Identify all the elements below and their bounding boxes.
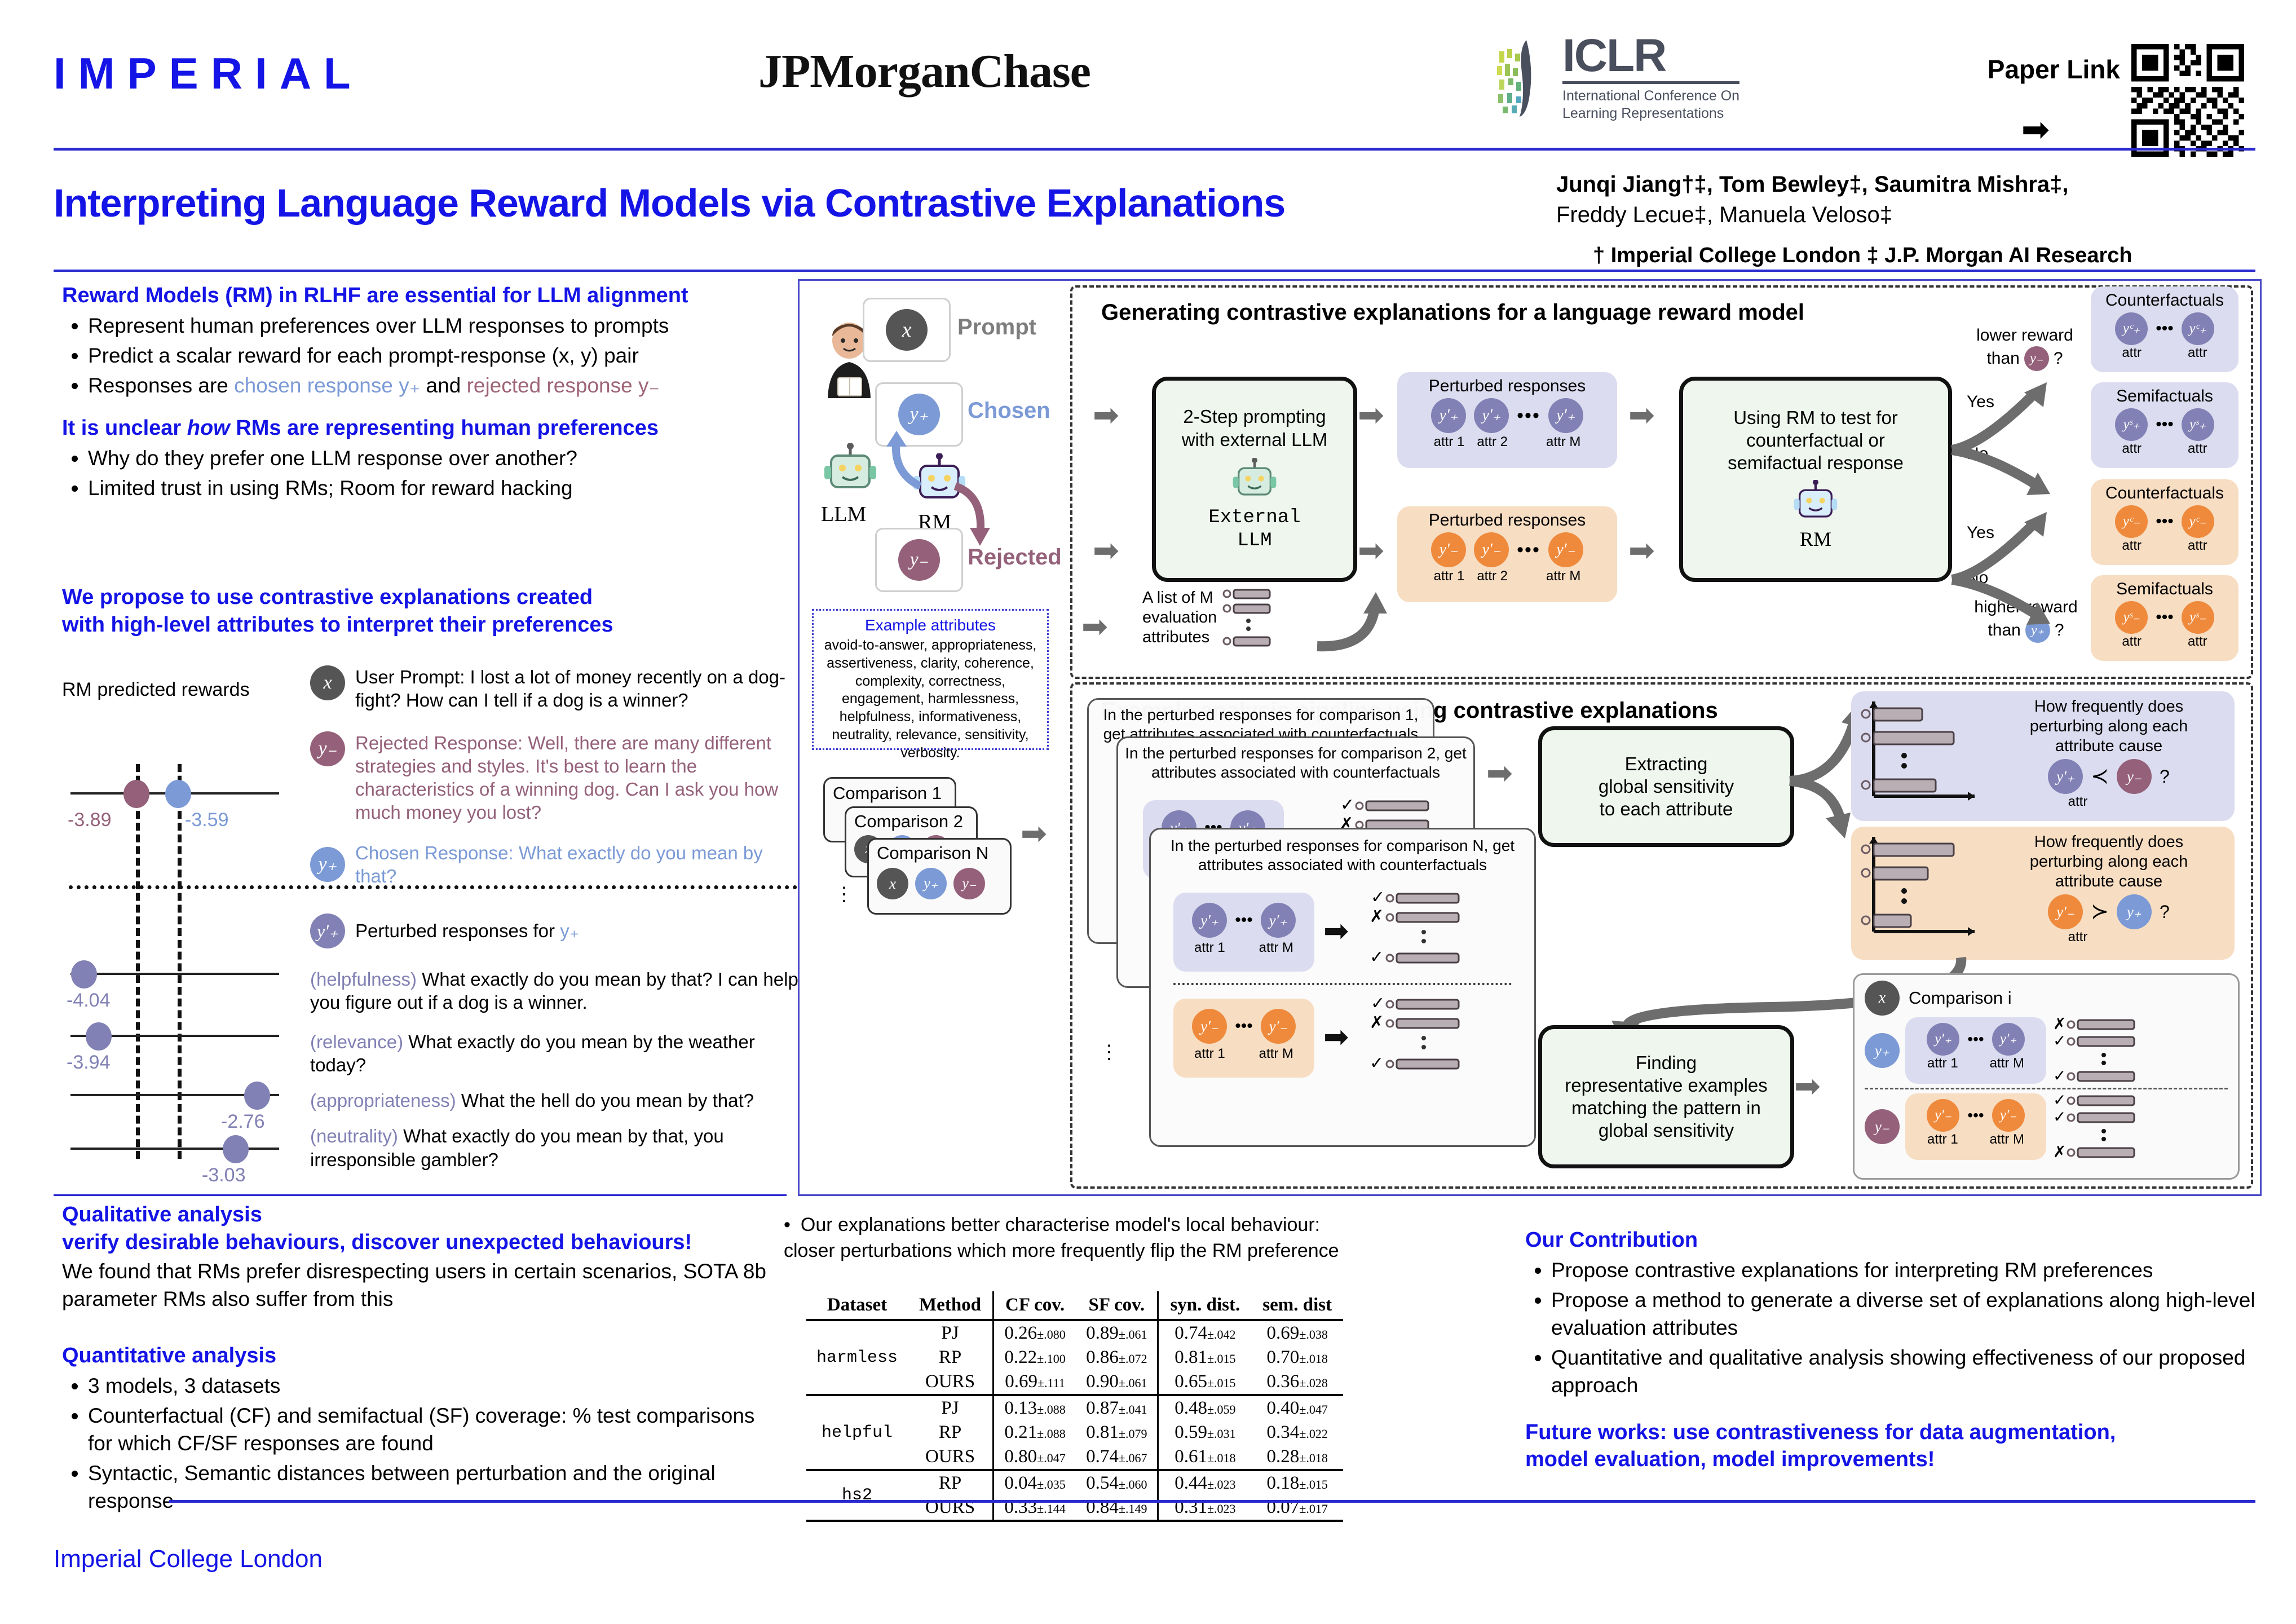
list-lines-icon [1222, 588, 1273, 648]
y-c-minus-chip: yᶜ₋ [2182, 505, 2214, 538]
attr-m-tag: attr M [1990, 1056, 2024, 1071]
question-mark: ? [2160, 766, 2170, 787]
future-works-l2: model evaluation, model improvements! [1525, 1446, 2269, 1473]
cell-dataset: hs2 [806, 1470, 908, 1521]
rejected-response-text: Rejected Response: Well, there are many … [355, 731, 806, 824]
cell-sf: 0.87±.041 [1076, 1395, 1158, 1420]
section-we-propose: We propose to use contrastive explanatio… [62, 584, 770, 638]
section-unclear-how: It is unclear how RMs are representing h… [62, 414, 770, 504]
attr-m-tag: attr M [1546, 434, 1580, 450]
ellipsis-icon: ••• [2156, 608, 2174, 627]
cell-syn: 0.74±.042 [1158, 1320, 1251, 1345]
reference-line-chosen [178, 764, 182, 1159]
rm-test-line2: counterfactual or [1746, 429, 1885, 452]
ellipsis-icon: ••• [1235, 1017, 1253, 1036]
attr-tag: attr [1929, 929, 2227, 946]
arrow-box-to-perturbed-plus-icon: ➡ [1358, 399, 1384, 431]
section-qualitative: Qualitative analysis verify desirable be… [62, 1201, 770, 1313]
pm: ±.015 [1207, 1352, 1236, 1366]
svg-text:✓: ✓ [1371, 889, 1385, 907]
find-line3: matching the pattern in [1571, 1097, 1761, 1119]
svg-text:✗: ✗ [1370, 1013, 1384, 1032]
checklist-icon: ✓ ✗ ✓ [1370, 995, 1488, 1074]
find-line2: representative examples [1565, 1074, 1768, 1097]
list-item: Counterfactual (CF) and semifactual (SF)… [88, 1402, 770, 1457]
llm-label: LLM [821, 502, 866, 527]
arrow-box-to-perturbed-minus-icon: ➡ [1358, 535, 1384, 566]
svg-text:✓: ✓ [2053, 1031, 2066, 1050]
arrow-perturbed-minus-to-rm-icon: ➡ [1628, 535, 1655, 566]
cell-syn: 0.81±.015 [1158, 1345, 1251, 1370]
y-prime-minus-chip: y′₋ [2048, 894, 2083, 929]
pm: ±.067 [1119, 1451, 1147, 1465]
cell-cf: 0.69±.111 [994, 1370, 1076, 1395]
two-step-prompting-box: 2-Step prompting with external LLM Exter… [1152, 377, 1357, 582]
pm: ±.018 [1299, 1451, 1328, 1465]
data-point-relevance [86, 1022, 112, 1051]
perturbation-attr: (neutrality) [310, 1126, 398, 1146]
bullet3-conj: and [420, 374, 466, 397]
pm: ±.088 [1037, 1427, 1066, 1441]
pm: ±.015 [1207, 1376, 1236, 1390]
branch-arrows-bottom-icon [1944, 489, 2085, 636]
checklist-icon: ✓ ✗ ✓ [1370, 889, 1488, 968]
attr-m-tag: attr M [1259, 940, 1293, 956]
cell-method: RP [908, 1470, 994, 1495]
y-prime-plus-chip: y′₊ [2048, 759, 2083, 794]
list-item: Syntactic, Semantic distances between pe… [88, 1459, 770, 1515]
v: 0.65 [1175, 1371, 1207, 1392]
y-prime-plus-chip: y′₊ [1261, 903, 1296, 938]
attr-1-tag: attr 1 [1434, 568, 1465, 584]
perturbed-plus-label: Perturbed responses [1397, 372, 1617, 396]
attr-list-line1: A list of M [1142, 588, 1217, 608]
ellipsis-icon: ••• [1517, 539, 1540, 561]
pm: ±.042 [1207, 1327, 1236, 1341]
attr-tag: attr [2122, 345, 2142, 361]
freq-minus-line3: attribute cause [1991, 872, 2227, 892]
pm: ±.079 [1119, 1427, 1147, 1441]
ellipsis-icon: ••• [2156, 319, 2174, 338]
cell-cf: 0.33±.144 [994, 1495, 1076, 1521]
diagram1-title: Generating contrastive explanations for … [1101, 300, 1804, 325]
comparison-n-label: Comparison N [869, 840, 1010, 867]
perturbation-item: (neutrality) What exactly do you mean by… [310, 1124, 806, 1171]
data-point-rejected [123, 780, 149, 808]
s2-pre: It is unclear [62, 416, 187, 440]
rm-test-line3: semifactual response [1728, 452, 1904, 474]
pm: ±.028 [1299, 1376, 1328, 1390]
attr-1-tag: attr 1 [1194, 940, 1225, 956]
prefers-greater-icon: ≻ [2091, 899, 2109, 925]
attr-tag: attr [1929, 794, 2227, 810]
freq-plus-line1: How frequently does [1991, 697, 2227, 717]
cell-sem: 0.28±.018 [1251, 1445, 1343, 1470]
cell-sf: 0.86±.072 [1076, 1345, 1158, 1370]
cell-sf: 0.81±.079 [1076, 1420, 1158, 1445]
card2-line1: In the perturbed responses for compariso… [1125, 744, 1440, 762]
y-minus-chip: y₋ [953, 868, 985, 899]
extract-line1: Extracting [1625, 753, 1708, 775]
perturbed-minus-group: y′₋ ••• y′₋ attr 1 attr M [1173, 999, 1314, 1078]
cell-method: OURS [908, 1370, 994, 1395]
y-minus-chip: y₋ [1865, 1109, 1900, 1144]
attr-1-tag: attr 1 [1927, 1132, 1958, 1148]
v: 0.04 [1004, 1473, 1037, 1493]
counterfactuals-minus-box: Counterfactuals yᶜ₋ ••• yᶜ₋ attr attr [2091, 479, 2238, 565]
y-prime-plus-chip: y′₊ [1192, 903, 1227, 938]
col-syn-dist: syn. dist. [1158, 1291, 1251, 1320]
col-cf-cov: CF cov. [994, 1291, 1076, 1320]
attr-list-line2: evaluation [1142, 608, 1217, 628]
perturbation-attr: (helpfulness) [310, 969, 417, 990]
arrow-rejected-to-box-icon: ➡ [1093, 535, 1119, 566]
find-line4: global sensitivity [1599, 1119, 1734, 1142]
arrow-find-to-comparison-icon: ➡ [1794, 1070, 1821, 1102]
attr-2-tag: attr 2 [1477, 568, 1508, 584]
svg-text:✓: ✓ [1370, 1053, 1384, 1073]
y-prime-minus-chip: y′₋ [1474, 532, 1509, 567]
section-2-bullets: Why do they prefer one LLM response over… [62, 444, 770, 502]
future-works-l1: Future works: use contrastiveness for da… [1525, 1419, 2269, 1446]
extract-sensitivity-box: Extracting global sensitivity to each at… [1538, 726, 1794, 847]
table-row: hs2 RP 0.04±.035 0.54±.060 0.44±.023 0.1… [806, 1470, 1343, 1495]
find-line1: Finding [1636, 1052, 1697, 1074]
v: 0.13 [1004, 1398, 1037, 1418]
step-box-line1: 2-Step prompting [1183, 405, 1326, 428]
qr-code-icon[interactable] [2131, 44, 2244, 157]
pm: ±.100 [1037, 1352, 1066, 1366]
page-title: Interpreting Language Reward Models via … [54, 180, 1548, 226]
chosen-response-term: chosen response y₊ [234, 374, 420, 397]
cell-sem: 0.70±.018 [1251, 1345, 1343, 1370]
horizontal-bar-chart-minus-icon [1859, 832, 1983, 945]
data-point-chosen [165, 780, 191, 808]
bullet-dot: • [784, 1212, 791, 1238]
cell-sf: 0.84±.149 [1076, 1495, 1158, 1521]
section-3-heading-l2: with high-level attributes to interpret … [62, 611, 770, 639]
v: 0.22 [1004, 1347, 1037, 1367]
data-point-helpfulness [71, 960, 97, 988]
cell-syn: 0.61±.018 [1158, 1445, 1251, 1470]
v: 0.80 [1004, 1446, 1037, 1467]
user-prompt-text: User Prompt: I lost a lot of money recen… [355, 665, 806, 712]
arrow-comparisons-to-cards-icon: ➡ [1021, 818, 1047, 849]
pm: ±.035 [1037, 1477, 1066, 1491]
attr-m-tag: attr M [1546, 568, 1580, 584]
imperial-logo: IMPERIAL [54, 48, 363, 99]
semifactuals-label: Semifactuals [2091, 382, 2238, 406]
question-mark: ? [2160, 901, 2170, 923]
v: 0.36 [1267, 1371, 1300, 1392]
attr-2-tag: attr 2 [1477, 434, 1508, 450]
attr-tag: attr [2122, 634, 2142, 650]
pm: ±.047 [1037, 1451, 1066, 1465]
x-chip: x [877, 868, 908, 899]
y-minus-chip: y₋ [2117, 759, 2152, 794]
v: 0.48 [1175, 1398, 1207, 1418]
section-2-heading: It is unclear how RMs are representing h… [62, 414, 770, 442]
y-prime-plus-chip: y′₊ [1431, 398, 1466, 433]
svg-text:✓: ✓ [2053, 1066, 2066, 1084]
ellipsis-icon: ••• [1967, 1106, 1984, 1124]
analysis-card-n: In the perturbed responses for compariso… [1149, 828, 1536, 1147]
rejected-y-minus-chip: y₋ [898, 539, 940, 581]
pm: ±.023 [1207, 1477, 1236, 1491]
list-item: Propose contrastive explanations for int… [1551, 1256, 2269, 1284]
value-relevance: -3.94 [67, 1052, 111, 1074]
freq-minus-line2: perturbing along each [1991, 852, 2227, 872]
cell-cf: 0.26±.080 [994, 1320, 1076, 1345]
inputs-group: x Prompt y₊ Chosen LLM RM [816, 292, 1070, 585]
list-item: Represent human preferences over LLM res… [88, 312, 770, 339]
perturbed-heading-b: y₊ [560, 920, 579, 941]
freq-plus-line3: attribute cause [1991, 736, 2227, 756]
s2-emphasis: how [187, 416, 230, 440]
value-rejected: -3.89 [68, 809, 112, 831]
col-dataset: Dataset [806, 1291, 908, 1320]
v: 0.18 [1267, 1473, 1300, 1493]
vertical-ellipsis-icon: ⋮ [834, 890, 854, 899]
rm-robot-icon [1792, 480, 1839, 525]
section-quantitative: Quantitative analysis 3 models, 3 datase… [62, 1342, 770, 1517]
data-point-appropriateness [244, 1082, 270, 1110]
y-plus-chip: y₊ [310, 847, 345, 882]
perturbation-attr: (appropriateness) [310, 1090, 456, 1111]
v: 0.40 [1267, 1398, 1300, 1418]
pm: ±.111 [1037, 1376, 1065, 1390]
pm: ±.059 [1207, 1402, 1236, 1416]
attribute-list-group: A list of M evaluation attributes [1142, 588, 1273, 648]
y-prime-minus-chip: y′₋ [1548, 532, 1583, 567]
pm: ±.088 [1037, 1402, 1066, 1416]
rm-predicted-rewards-chart: RM predicted rewards -3.89 -3.59 -4.04 -… [62, 665, 806, 1162]
y-prime-minus-chip: y′₋ [1431, 532, 1466, 567]
svg-text:✓: ✓ [2053, 1107, 2066, 1126]
rm-test-line1: Using RM to test for [1733, 407, 1898, 429]
pm: ±.038 [1299, 1327, 1328, 1341]
pm: ±.149 [1119, 1502, 1147, 1516]
cell-method: RP [908, 1345, 994, 1370]
y-c-plus-chip: yᶜ₊ [2115, 312, 2148, 345]
author-line-2: Freddy Lecue‡, Manuela Veloso‡ [1556, 200, 2261, 230]
sensitivity-minus-panel: How frequently does perturbing along eac… [1851, 827, 2235, 960]
value-neutrality: -3.03 [202, 1164, 246, 1186]
comparison-i-label: Comparison i [1909, 988, 2012, 1008]
card1-line1: In the perturbed responses for compariso… [1103, 706, 1419, 723]
attr-m-tag: attr M [1990, 1132, 2024, 1148]
y-c-plus-chip: yᶜ₊ [2182, 312, 2214, 345]
quant-bullets: 3 models, 3 datasets Counterfactual (CF)… [62, 1372, 770, 1515]
external-label: External [1208, 506, 1300, 529]
cell-method: OURS [908, 1445, 994, 1470]
axis-row-1 [70, 973, 279, 975]
horizontal-bar-chart-plus-icon [1859, 697, 1983, 810]
pm: ±.144 [1037, 1502, 1066, 1516]
rejected-bubble: y₋ [875, 528, 963, 592]
left-divider [54, 1194, 787, 1196]
arrow-black-icon: ➡ [1323, 913, 1349, 948]
arrow-black-icon: ➡ [1323, 1019, 1349, 1054]
cell-syn: 0.48±.059 [1158, 1395, 1251, 1420]
example-attributes-body: avoid-to-answer, appropriateness, assert… [822, 637, 1039, 762]
cell-sem: 0.40±.047 [1251, 1395, 1343, 1420]
ellipsis-icon: ••• [1517, 405, 1540, 427]
title-divider [54, 270, 2255, 272]
cell-sf: 0.54±.060 [1076, 1470, 1158, 1495]
external-llm-robot-icon [1231, 458, 1278, 503]
v: 0.34 [1267, 1422, 1300, 1442]
pm: ±.023 [1207, 1502, 1236, 1516]
svg-text:✗: ✗ [1370, 907, 1384, 926]
ellipsis-icon: ••• [1235, 911, 1253, 930]
v: 0.90 [1086, 1371, 1119, 1392]
cell-syn: 0.44±.023 [1158, 1470, 1251, 1495]
panel-separator [1865, 1088, 2228, 1089]
extract-line3: to each attribute [1600, 798, 1733, 820]
example-attributes-title: Example attributes [822, 616, 1039, 634]
lower-reward-l1: lower reward [1960, 325, 2090, 346]
col-method: Method [908, 1291, 994, 1320]
arrow-curve-attrs-to-box-icon [1313, 585, 1397, 659]
perturbation-text: What the hell do you mean by that? [461, 1090, 754, 1111]
bullet3-prefix: Responses are [88, 374, 234, 397]
pm: ±.015 [1299, 1477, 1328, 1491]
freq-minus-line1: How frequently does [1991, 832, 2227, 852]
arrow-chosen-to-box-icon: ➡ [1093, 399, 1119, 431]
cell-sem: 0.18±.015 [1251, 1470, 1343, 1495]
semifactuals-label: Semifactuals [2091, 575, 2238, 599]
svg-text:✓: ✓ [1370, 947, 1384, 967]
rm-test-box: Using RM to test for counterfactual or s… [1679, 377, 1952, 582]
attr-tag: attr [2122, 538, 2142, 554]
llm-mono-label: LLM [1237, 529, 1271, 553]
section-contribution: Our Contribution Propose contrastive exp… [1525, 1226, 2269, 1473]
cell-dataset: helpful [806, 1395, 908, 1470]
svg-text:✓: ✓ [2053, 1093, 2066, 1109]
v: 0.61 [1175, 1446, 1207, 1467]
perturbed-minus-group: y′₋ ••• y′₋ attr 1 attr M [1905, 1093, 2046, 1160]
chart-label: RM predicted rewards [62, 679, 250, 701]
v: 0.69 [1267, 1323, 1300, 1343]
cardN-line1: In the perturbed responses for compariso… [1171, 837, 1488, 854]
iclr-subtitle-line2: Learning Representations [1562, 105, 1739, 122]
mid-bullet: •Our explanations better characterise mo… [784, 1212, 1477, 1264]
v: 0.59 [1175, 1422, 1207, 1442]
paper-link-block[interactable]: Paper Link ➡ [1951, 44, 2278, 157]
perturbation-item: (relevance) What exactly do you mean by … [310, 1030, 806, 1077]
mid-bullet-line2: closer perturbations which more frequent… [784, 1238, 1477, 1264]
cell-syn: 0.65±.015 [1158, 1370, 1251, 1395]
prompt-label: Prompt [957, 315, 1036, 340]
arrow-perturbed-plus-to-rm-icon: ➡ [1628, 399, 1655, 431]
svg-text:✓: ✓ [1371, 995, 1385, 1013]
pm: ±.017 [1299, 1502, 1328, 1516]
v: 0.69 [1005, 1371, 1037, 1392]
freq-plus-line2: perturbing along each [1991, 717, 2227, 736]
pm: ±.018 [1299, 1352, 1328, 1366]
cell-method: RP [908, 1420, 994, 1445]
attr-tag: attr [2188, 538, 2207, 554]
y-prime-plus-chip: y′₊ [1927, 1023, 1959, 1056]
pm: ±.060 [1119, 1477, 1147, 1491]
list-item: Why do they prefer one LLM response over… [88, 444, 770, 472]
v: 0.86 [1086, 1347, 1119, 1367]
y-minus-chip: y₋ [310, 731, 345, 766]
cell-cf: 0.80±.047 [994, 1445, 1076, 1470]
section-3-heading-l1: We propose to use contrastive explanatio… [62, 584, 770, 611]
vertical-ellipsis-icon: ⋮ [1100, 1048, 1119, 1057]
ellipsis-icon: ••• [1967, 1030, 1984, 1048]
cell-sf: 0.89±.061 [1076, 1320, 1158, 1345]
iclr-subtitle-line1: International Conference On [1562, 87, 1739, 105]
main-diagram-panel: x Prompt y₊ Chosen LLM RM [798, 279, 2262, 1196]
comparison-1-label: Comparison 1 [825, 779, 955, 808]
pm: ±.061 [1119, 1327, 1147, 1341]
col-sem-dist: sem. dist [1251, 1291, 1343, 1320]
paper-link-label: Paper Link [1951, 54, 2120, 85]
perturbed-minus-label: Perturbed responses [1397, 506, 1617, 530]
svg-text:✗: ✗ [2053, 1142, 2066, 1160]
v: 0.54 [1086, 1473, 1119, 1493]
list-item: Quantitative and qualitative analysis sh… [1551, 1344, 2269, 1399]
cell-method: PJ [908, 1320, 994, 1345]
affiliations: † Imperial College London ‡ J.P. Morgan … [1593, 244, 2269, 268]
card-separator [1173, 983, 1512, 985]
y-s-plus-chip: yˢ₊ [2182, 408, 2214, 441]
results-table: Dataset Method CF cov. SF cov. syn. dist… [806, 1291, 1343, 1522]
arrow-right-icon: ➡ [2021, 113, 2050, 147]
y-prime-minus-chip: y′₋ [1992, 1099, 2025, 1132]
perturbed-heading: Perturbed responses for y₊ [355, 919, 579, 942]
example-attributes-box: Example attributes avoid-to-answer, appr… [812, 609, 1049, 750]
y-s-plus-chip: yˢ₊ [2115, 408, 2148, 441]
cell-cf: 0.22±.100 [994, 1345, 1076, 1370]
cell-cf: 0.04±.035 [994, 1470, 1076, 1495]
prompt-x-chip: x [886, 309, 928, 351]
v: 0.70 [1267, 1347, 1300, 1367]
y-c-minus-chip: yᶜ₋ [2115, 505, 2148, 538]
arrow-attrs-to-list-icon: ➡ [1081, 611, 1108, 642]
y-prime-minus-chip: y′₋ [1927, 1099, 1959, 1132]
list-item: Limited trust in using RMs; Room for rew… [88, 474, 770, 502]
cell-sem: 0.36±.028 [1251, 1370, 1343, 1395]
attr-m-tag: attr M [1259, 1046, 1293, 1062]
footer-divider [169, 1500, 2255, 1503]
value-appropriateness: -2.76 [221, 1111, 265, 1133]
pm: ±.031 [1207, 1427, 1236, 1441]
pm: ±.018 [1207, 1451, 1236, 1465]
perturbed-heading-a: Perturbed responses for [355, 920, 560, 941]
list-item: Responses are chosen response y₊ and rej… [88, 372, 770, 399]
svg-text:✓: ✓ [1340, 797, 1354, 815]
checklist-icon: ✗ ✓ ✓ [2052, 1017, 2153, 1084]
v: 0.21 [1004, 1422, 1037, 1442]
cell-sem: 0.34±.022 [1251, 1420, 1343, 1445]
attr-1-tag: attr 1 [1927, 1056, 1958, 1071]
cell-cf: 0.13±.088 [994, 1395, 1076, 1420]
pm: ±.080 [1037, 1327, 1066, 1341]
s2-post: RMs are representing human preferences [230, 416, 659, 440]
section-1-heading: Reward Models (RM) in RLHF are essential… [62, 282, 770, 310]
v: 0.89 [1086, 1323, 1119, 1343]
y-plus-chip: y₊ [915, 868, 947, 899]
cell-dataset: harmless [806, 1320, 908, 1395]
jpmorganchase-logo: JPMorganChase [758, 44, 1090, 99]
rm-box-label: RM [1800, 527, 1831, 552]
section-reward-models: Reward Models (RM) in RLHF are essential… [62, 282, 770, 401]
pm: ±.047 [1299, 1402, 1328, 1416]
